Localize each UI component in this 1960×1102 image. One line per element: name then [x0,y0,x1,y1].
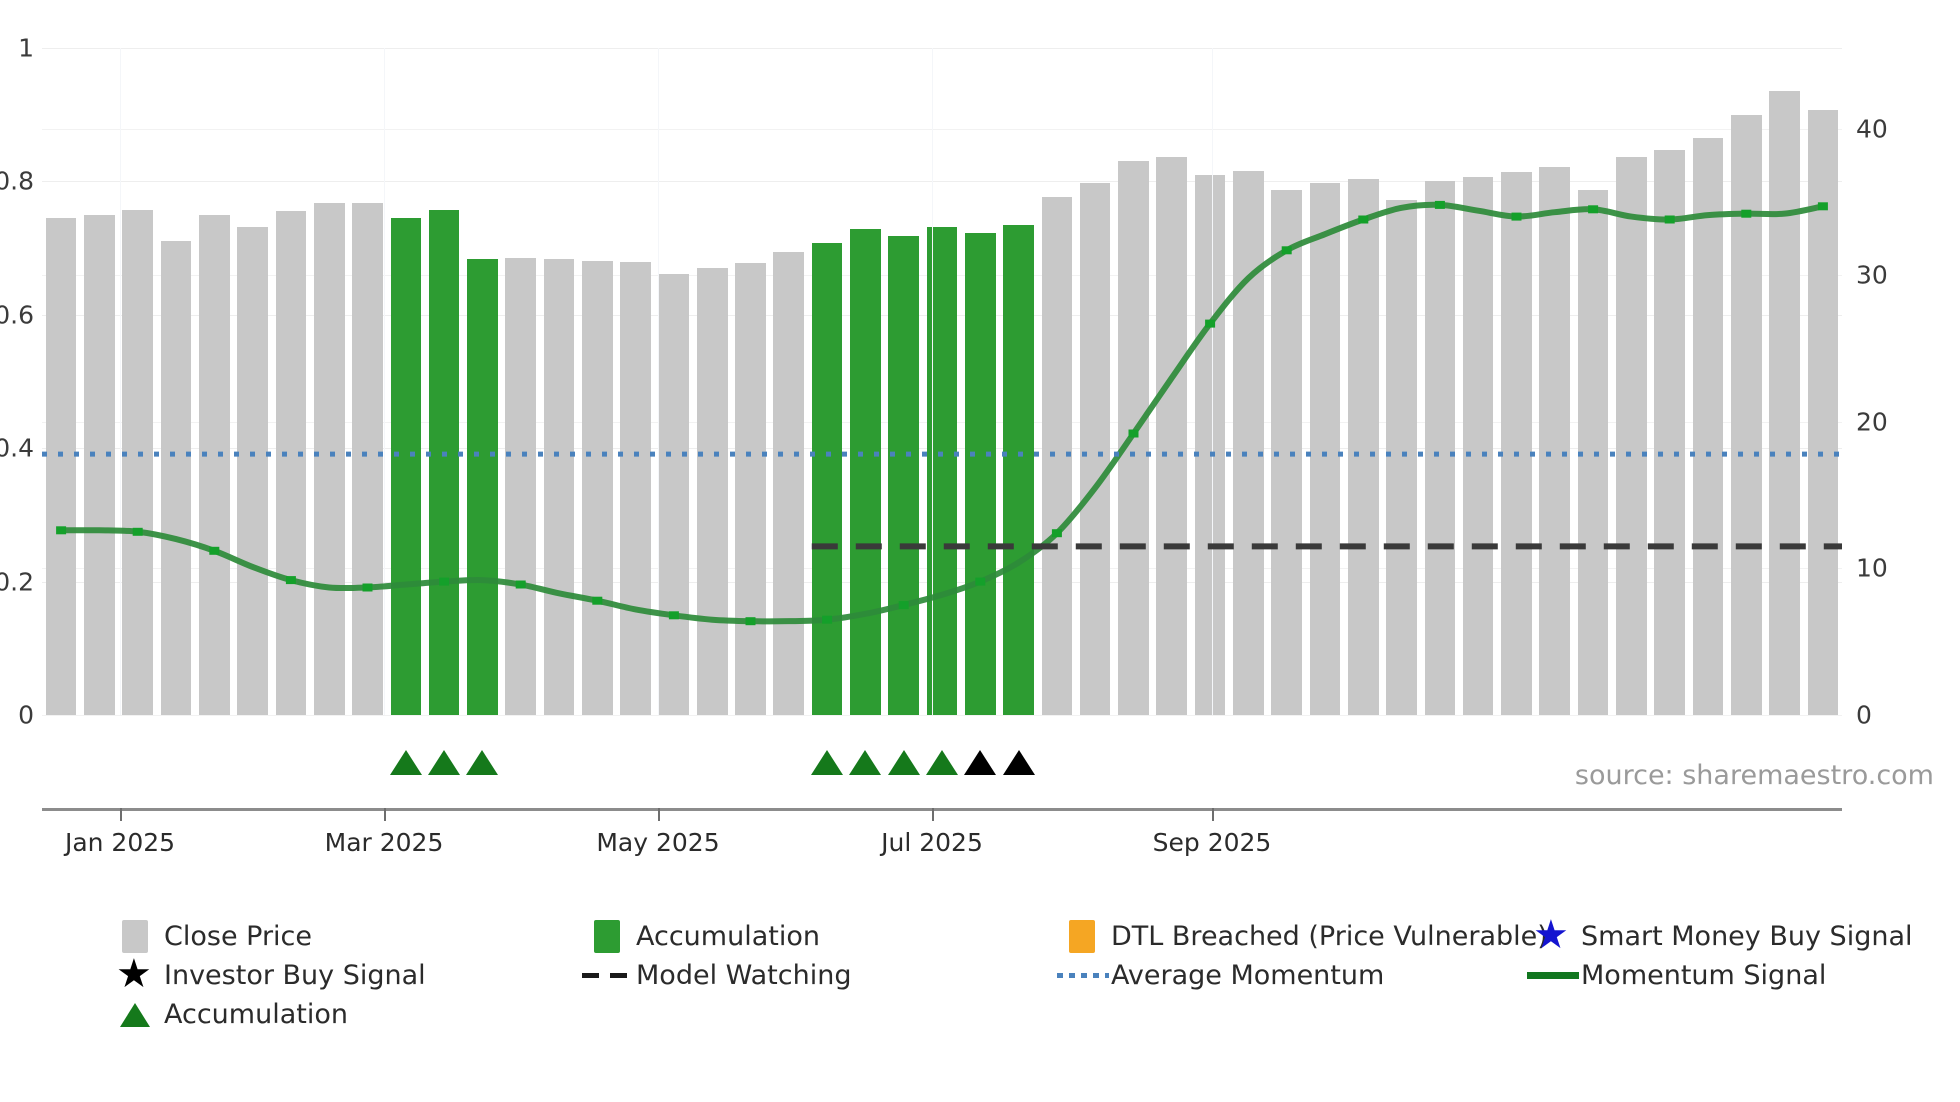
accumulation-marker [811,750,843,775]
bar-close-price [1195,175,1226,715]
bar-close-price [46,218,77,715]
x-axis-tick [932,808,934,821]
left-axis-tick-label: 0.6 [0,300,34,329]
bar-close-price [237,227,268,715]
x-axis-line [42,808,1842,811]
investor-buy-signal-marker [1003,750,1035,775]
bar-accumulation [965,233,996,715]
x-axis-tick-label: Jul 2025 [881,828,983,857]
bar-close-price [314,203,345,715]
legend-accumulation-marker[interactable]: Accumulation [108,996,348,1032]
left-axis: 10.80.60.40.20 [0,48,34,715]
accumulation-marker [428,750,460,775]
solid-line-icon-glyph [1527,972,1579,979]
bar-close-price [199,215,230,715]
bar-close-price [1769,91,1800,715]
star-icon-glyph: ★ [116,956,152,992]
bar-accumulation [1003,225,1034,715]
solid-line-icon [1525,957,1581,993]
gridline-vertical [1212,48,1213,715]
legend-dtl-breached[interactable]: DTL Breached (Price Vulnerable) [1055,918,1548,954]
square-swatch-icon-glyph [1069,920,1095,953]
bar-close-price [505,258,536,715]
right-axis: 403020100 [1856,48,1956,715]
right-axis-tick-label: 30 [1856,261,1888,290]
bar-close-price [1118,161,1149,715]
legend-average-momentum[interactable]: Average Momentum [1055,957,1384,993]
plot-inner [42,48,1842,715]
bar-close-price [1080,183,1111,715]
square-swatch-icon [580,918,636,954]
legend-label: Smart Money Buy Signal [1581,921,1913,952]
legend-label: Average Momentum [1111,960,1384,991]
dotted-line-icon [1055,957,1111,993]
legend-momentum-signal[interactable]: Momentum Signal [1525,957,1826,993]
bar-close-price [544,259,575,715]
bar-close-price [1233,171,1264,715]
bar-close-price [1310,183,1341,715]
legend-label: Momentum Signal [1581,960,1826,991]
triangle-icon-glyph [120,1003,150,1027]
x-axis-tick-label: Mar 2025 [325,828,444,857]
gridline-right [42,715,1842,716]
bar-close-price [659,274,690,715]
right-axis-tick-label: 40 [1856,114,1888,143]
bar-close-price [773,252,804,715]
investor-buy-signal-marker [964,750,996,775]
dashed-line-icon-glyph [582,973,634,978]
x-axis-tick-label: May 2025 [596,828,719,857]
legend-investor-buy-signal[interactable]: ★Investor Buy Signal [108,957,426,993]
plot-area [42,48,1842,715]
square-swatch-icon-glyph [122,920,148,953]
bar-accumulation [391,218,422,715]
gridline-vertical [658,48,659,715]
bar-close-price [1808,110,1839,715]
bar-close-price [352,203,383,715]
left-axis-tick-label: 0 [18,701,34,730]
bar-close-price [84,215,115,715]
legend-label: Close Price [164,921,312,952]
gridline-vertical [932,48,933,715]
bar-accumulation [812,243,843,715]
square-swatch-icon [108,918,164,954]
chart-root: { "source_note": "source: sharemaestro.c… [0,0,1960,1102]
bar-close-price [161,241,192,715]
x-axis-tick [1212,808,1214,821]
bar-accumulation [888,236,919,715]
bar-close-price [1042,197,1073,715]
bar-close-price [276,211,307,715]
legend-label: DTL Breached (Price Vulnerable) [1111,921,1548,952]
bar-close-price [1654,150,1685,715]
bar-close-price [620,262,651,715]
square-swatch-icon [1055,918,1111,954]
bar-close-price [1386,200,1417,715]
bar-close-price [1463,177,1494,715]
x-axis-tick [120,808,122,821]
bar-close-price [122,210,153,715]
gridline-right [42,129,1842,130]
bar-close-price [1731,115,1762,715]
square-swatch-icon-glyph [594,920,620,953]
bar-close-price [697,268,728,715]
source-note: source: sharemaestro.com [1575,760,1934,791]
legend-model-watching[interactable]: Model Watching [580,957,851,993]
right-axis-tick-label: 0 [1856,701,1872,730]
bar-close-price [1425,181,1456,715]
bar-close-price [1501,172,1532,715]
bar-accumulation [467,259,498,715]
bar-close-price [1616,157,1647,715]
star-icon: ★ [108,957,164,993]
right-axis-tick-label: 20 [1856,407,1888,436]
x-axis-tick-label: Jan 2025 [65,828,175,857]
bar-close-price [1693,138,1724,715]
bar-close-price [1271,190,1302,715]
x-axis-tick-label: Sep 2025 [1153,828,1272,857]
bar-close-price [1539,167,1570,715]
bar-close-price [735,263,766,715]
star-icon: ★ [1525,918,1581,954]
gridline-vertical [120,48,121,715]
dotted-line-icon-glyph [1057,973,1109,978]
x-axis-tick [384,808,386,821]
legend-accumulation-bar[interactable]: Accumulation [580,918,820,954]
bar-close-price [1578,190,1609,715]
dashed-line-icon [580,957,636,993]
legend-close-price[interactable]: Close Price [108,918,312,954]
accumulation-marker [849,750,881,775]
legend-smart-money-buy-signal[interactable]: ★Smart Money Buy Signal [1525,918,1913,954]
accumulation-marker [466,750,498,775]
bar-close-price [582,261,613,715]
bar-accumulation [850,229,881,715]
star-icon-glyph: ★ [1533,917,1569,953]
triangle-icon [108,996,164,1032]
bar-close-price [1348,179,1379,715]
legend: Close PriceAccumulationDTL Breached (Pri… [0,918,1960,1098]
left-axis-tick-label: 0.4 [0,434,34,463]
left-axis-tick-label: 0.2 [0,567,34,596]
bar-accumulation [429,210,460,715]
right-axis-tick-label: 10 [1856,554,1888,583]
legend-label: Accumulation [636,921,820,952]
legend-label: Investor Buy Signal [164,960,426,991]
accumulation-marker [390,750,422,775]
left-axis-tick-label: 0.8 [0,167,34,196]
gridline-vertical [384,48,385,715]
x-axis-tick [658,808,660,821]
legend-label: Model Watching [636,960,851,991]
bar-close-price [1156,157,1187,715]
gridline-left [42,181,1842,182]
accumulation-marker [926,750,958,775]
gridline-left [42,48,1842,49]
legend-label: Accumulation [164,999,348,1030]
accumulation-marker [888,750,920,775]
left-axis-tick-label: 1 [18,34,34,63]
